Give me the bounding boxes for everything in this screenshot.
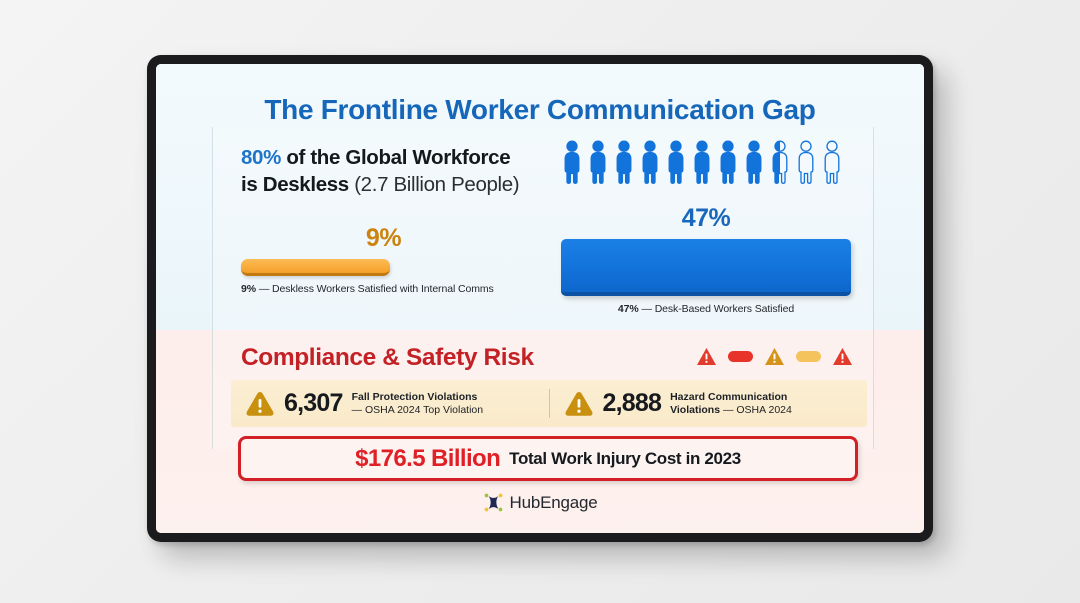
bar-caption-dash-deskless: — <box>259 283 269 295</box>
deskless-percent: 80% <box>241 146 281 169</box>
deskless-statement: 80% of the Global Workforce is Deskless … <box>241 144 571 199</box>
osha-text-bold-fall-protection: Fall Protection Violations <box>352 391 478 403</box>
brand-logo: HubEngage <box>156 492 924 513</box>
person-icon <box>769 140 791 184</box>
person-icon <box>717 140 739 184</box>
person-icon <box>613 140 635 184</box>
compliance-heading: Compliance & Safety Risk <box>241 344 534 372</box>
person-icon <box>587 140 609 184</box>
warning-triangle-icon <box>245 390 275 417</box>
chart-bar-deskless: 9% 9% — Deskless Workers Satisfied with … <box>241 224 526 295</box>
osha-stat-hazard-communication: 2,888 Hazard Communication Violations — … <box>549 389 868 418</box>
osha-number-hazard-communication: 2,888 <box>603 389 662 418</box>
bar-caption-text-desk-based: Desk-Based Workers Satisfied <box>655 303 794 315</box>
bar-caption-text-deskless: Deskless Workers Satisfied with Internal… <box>272 283 494 295</box>
bar-value-desk-based: 47% <box>561 204 851 233</box>
person-icon <box>795 140 817 184</box>
bar-track-deskless <box>241 259 526 276</box>
person-icon <box>821 140 843 184</box>
monitor-bezel: The Frontline Worker Communication Gap 8… <box>147 55 933 542</box>
pill-amber-icon <box>796 351 821 362</box>
bar-value-deskless: 9% <box>241 224 526 253</box>
warning-triangle-amber-icon <box>764 347 785 366</box>
osha-text-fall-protection: Fall Protection Violations — OSHA 2024 T… <box>352 391 484 417</box>
osha-text-rest-bold-hazard-communication: Violations <box>670 404 720 416</box>
bar-track-desk-based <box>561 239 851 296</box>
chart-bar-desk-based: 47% 47% — Desk-Based Workers Satisfied <box>561 204 851 315</box>
bar-fill-deskless <box>241 259 390 276</box>
person-icon <box>691 140 713 184</box>
monitor-screen: The Frontline Worker Communication Gap 8… <box>156 64 924 533</box>
hubengage-x-icon <box>483 492 504 513</box>
cost-banner: $176.5 Billion Total Work Injury Cost in… <box>238 436 858 481</box>
cost-label: Total Work Injury Cost in 2023 <box>509 449 741 469</box>
logo-text: HubEngage <box>510 493 598 513</box>
bar-caption-deskless: 9% — Deskless Workers Satisfied with Int… <box>241 283 526 295</box>
person-icon <box>665 140 687 184</box>
osha-number-fall-protection: 6,307 <box>284 389 343 418</box>
page-title: The Frontline Worker Communication Gap <box>156 94 924 126</box>
deskless-line2-light: (2.7 Billion People) <box>349 173 519 196</box>
osha-text-rest-fall-protection: — OSHA 2024 Top Violation <box>352 404 484 416</box>
warning-triangle-red-icon <box>696 347 717 366</box>
warning-triangle-icon-2 <box>564 390 594 417</box>
bar-fill-desk-based <box>561 239 851 296</box>
bar-caption-value-desk-based: 47% <box>618 303 639 315</box>
bar-caption-value-deskless: 9% <box>241 283 256 295</box>
warning-triangle-red-icon-2 <box>832 347 853 366</box>
osha-text-rest-hazard-communication: — OSHA 2024 <box>720 404 792 416</box>
cost-amount: $176.5 Billion <box>355 445 500 473</box>
screenshot-stage: The Frontline Worker Communication Gap 8… <box>0 0 1080 603</box>
risk-icon-row <box>696 347 853 366</box>
osha-stat-fall-protection: 6,307 Fall Protection Violations — OSHA … <box>231 389 549 418</box>
person-icon <box>743 140 765 184</box>
osha-stats-strip: 6,307 Fall Protection Violations — OSHA … <box>231 380 867 427</box>
person-icon <box>639 140 661 184</box>
deskless-line1-rest: of the Global Workforce <box>281 146 510 169</box>
people-pictogram <box>561 140 843 184</box>
deskless-line2-bold: is Deskless <box>241 173 349 196</box>
osha-text-bold-hazard-communication: Hazard Communication <box>670 391 787 403</box>
bar-caption-dash-desk-based: — <box>641 303 651 315</box>
person-icon <box>561 140 583 184</box>
pill-red-icon <box>728 351 753 362</box>
bar-caption-desk-based: 47% — Desk-Based Workers Satisfied <box>561 303 851 315</box>
osha-text-hazard-communication: Hazard Communication Violations — OSHA 2… <box>670 391 792 417</box>
